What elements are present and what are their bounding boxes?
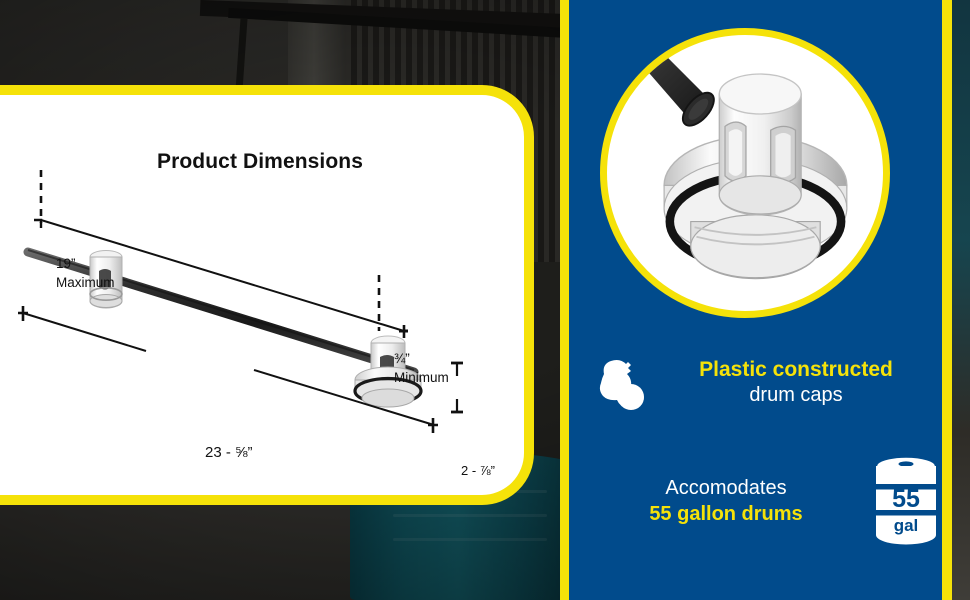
feature-plastic-constructed: Plastic constructed drum caps — [590, 352, 940, 414]
panel-left-accent-stripe — [560, 0, 569, 600]
oil-drum-icon: 55 gal — [867, 455, 945, 547]
infographic-stage: Product Dimensions — [0, 0, 970, 600]
drum-cap-product-illustration — [607, 35, 883, 311]
dimension-value: 19” — [56, 256, 76, 271]
dimension-cap-diameter-lines — [451, 363, 463, 412]
product-dimensions-diagram — [0, 95, 524, 495]
hero-vented-tower — [719, 74, 801, 215]
dimension-label-length: 23 - ⅝” — [205, 443, 253, 464]
drum-badge-number: 55 — [892, 485, 920, 513]
feature-subline: 55 gallon drums — [585, 501, 867, 527]
drum-badge-unit: gal — [894, 516, 919, 535]
dimension-label-cap-diameter: 2 - ⅞” — [461, 462, 495, 480]
dimension-value: ¾” — [394, 351, 410, 366]
hero-product-photo — [600, 28, 890, 318]
dimension-label-height-max: 19” Maximum — [56, 255, 115, 292]
feature-plastic-text: Plastic constructed drum caps — [652, 357, 940, 408]
dimension-qualifier: Maximum — [56, 275, 115, 290]
product-dimensions-card: Product Dimensions — [0, 85, 534, 505]
dimension-qualifier: Minimum — [394, 370, 449, 385]
dimension-label-height-min: ¾” Minimum — [394, 350, 449, 387]
feature-accomodates-drums: Accomodates 55 gallon drums 55 gal — [585, 455, 945, 547]
feature-headline: Plastic constructed — [652, 357, 940, 383]
flexing-bicep-icon — [590, 352, 652, 414]
feature-headline: Accomodates — [585, 475, 867, 501]
feature-subline: drum caps — [652, 383, 940, 409]
hero-threaded-plug — [691, 215, 820, 279]
feature-drums-text: Accomodates 55 gallon drums — [585, 475, 867, 527]
background-right-edge — [952, 0, 970, 600]
